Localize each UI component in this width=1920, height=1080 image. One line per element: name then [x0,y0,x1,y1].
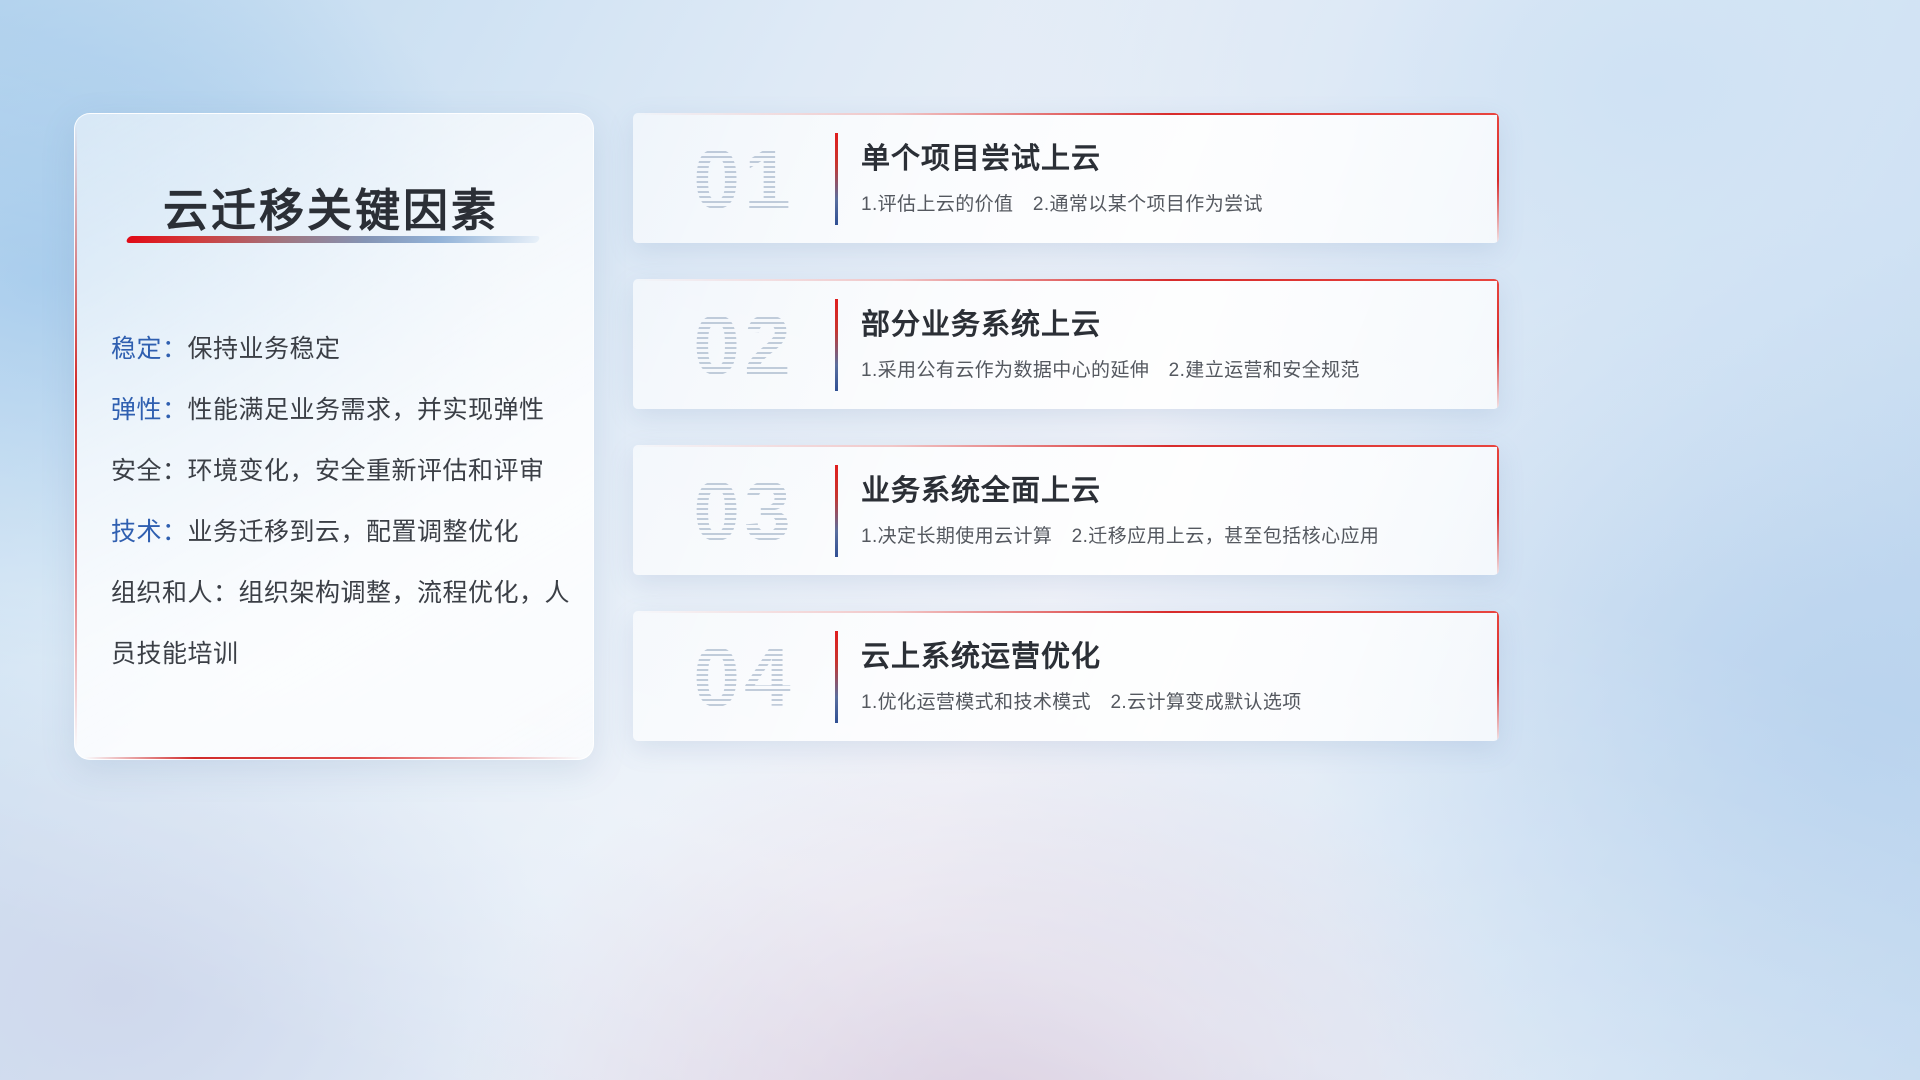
list-item: 安全：环境变化，安全重新评估和评审 [111,441,575,502]
factor-text: 环境变化，安全重新评估和评审 [188,457,545,485]
stage-title: 部分业务系统上云 [861,301,1101,343]
stage-accent-bar [835,631,838,723]
stage-card-03[interactable]: 03 业务系统全面上云 1.决定长期使用云计算 2.迁移应用上云，甚至包括核心应… [633,445,1499,575]
page-title: 云迁移关键因素 [163,174,499,239]
slide-stage: 云迁移关键因素 稳定：保持业务稳定 弹性：性能满足业务需求，并实现弹性 安全：环… [0,0,1920,1080]
stage-title: 云上系统运营优化 [861,633,1101,675]
title-underline-accent [125,236,540,243]
stage-description: 1.评估上云的价值 2.通常以某个项目作为尝试 [861,189,1263,216]
factor-label: 稳定： [111,335,188,363]
factor-label: 安全： [111,457,188,485]
stage-description: 1.优化运营模式和技术模式 2.云计算变成默认选项 [861,687,1302,714]
stage-description: 1.采用公有云作为数据中心的延伸 2.建立运营和安全规范 [861,355,1360,382]
stage-card-04[interactable]: 04 云上系统运营优化 1.优化运营模式和技术模式 2.云计算变成默认选项 [633,611,1499,741]
list-item: 弹性：性能满足业务需求，并实现弹性 [111,380,575,441]
stage-description: 1.决定长期使用云计算 2.迁移应用上云，甚至包括核心应用 [861,521,1379,548]
key-factors-panel: 云迁移关键因素 稳定：保持业务稳定 弹性：性能满足业务需求，并实现弹性 安全：环… [74,113,594,760]
stage-title: 业务系统全面上云 [861,467,1101,509]
stage-number-glyph: 04 [659,623,829,731]
list-item: 技术：业务迁移到云，配置调整优化 [111,502,575,563]
factor-label: 弹性： [111,396,188,424]
factor-text: 保持业务稳定 [188,335,341,363]
stage-card-01[interactable]: 01 单个项目尝试上云 1.评估上云的价值 2.通常以某个项目作为尝试 [633,113,1499,243]
key-factors-list: 稳定：保持业务稳定 弹性：性能满足业务需求，并实现弹性 安全：环境变化，安全重新… [111,319,575,685]
factor-text: 业务迁移到云，配置调整优化 [188,518,520,546]
stage-number-glyph: 02 [659,291,829,399]
list-item: 组织和人：组织架构调整，流程优化，人员技能培训 [111,563,575,685]
list-item: 稳定：保持业务稳定 [111,319,575,380]
factor-label: 组织和人： [111,579,239,607]
stage-number-glyph: 03 [659,457,829,565]
stage-accent-bar [835,465,838,557]
factor-label: 技术： [111,518,188,546]
stage-card-02[interactable]: 02 部分业务系统上云 1.采用公有云作为数据中心的延伸 2.建立运营和安全规范 [633,279,1499,409]
stage-accent-bar [835,299,838,391]
factor-text: 性能满足业务需求，并实现弹性 [188,396,545,424]
stage-accent-bar [835,133,838,225]
migration-stage-cards: 01 单个项目尝试上云 1.评估上云的价值 2.通常以某个项目作为尝试 02 部… [633,113,1499,777]
stage-number-glyph: 01 [659,125,829,233]
stage-title: 单个项目尝试上云 [861,135,1101,177]
